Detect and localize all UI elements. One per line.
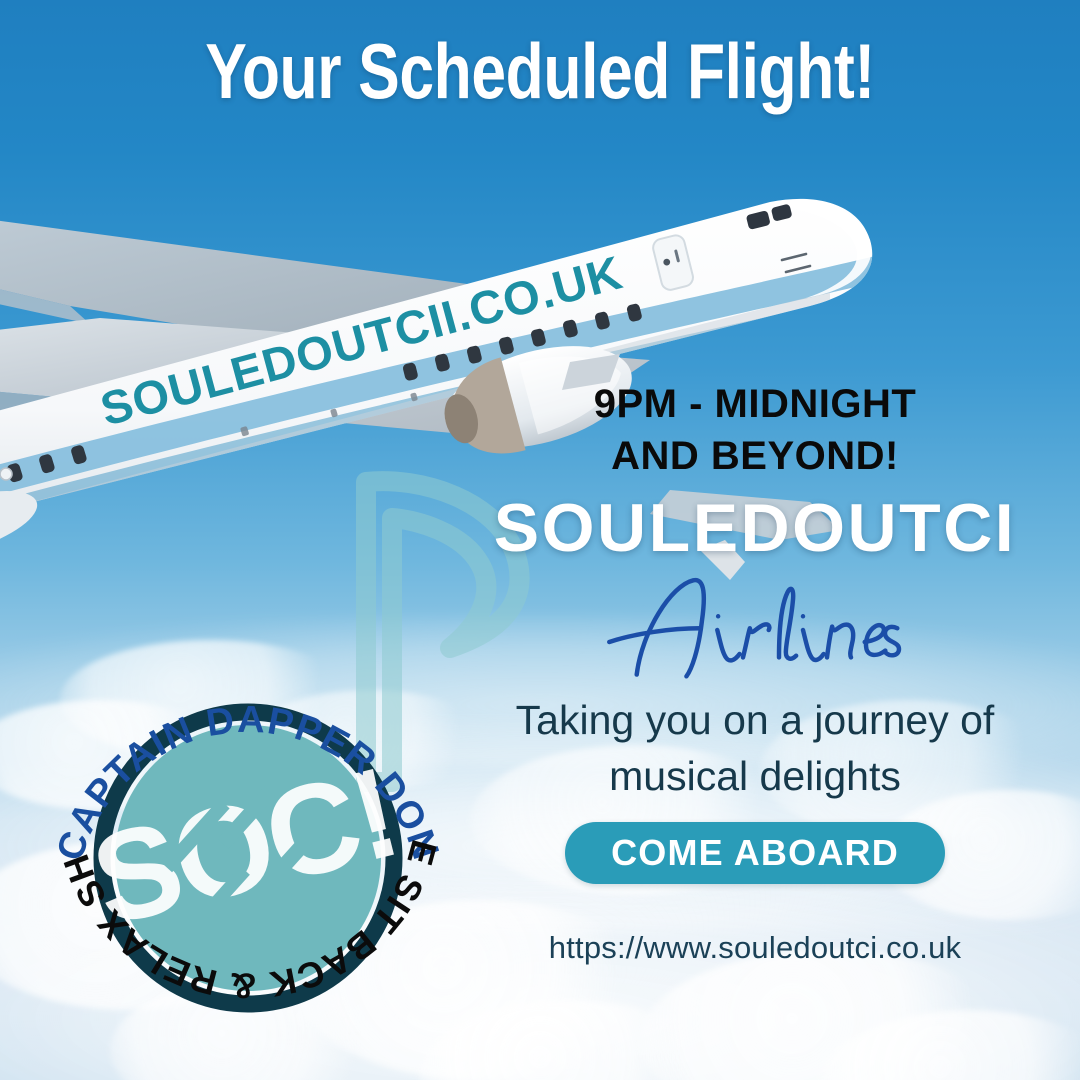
come-aboard-label: COME ABOARD: [611, 832, 899, 874]
show-badge: SOC! CAPTAIN DAPPER DON THE SIT BACK & R…: [38, 646, 458, 1066]
website-url[interactable]: https://www.souledoutci.co.uk: [455, 930, 1055, 966]
show-time-line-2: AND BEYOND!: [455, 430, 1055, 482]
promo-poster: SOULEDOUTCII.CO.UK Your Scheduled Flight…: [0, 0, 1080, 1080]
come-aboard-button[interactable]: COME ABOARD: [565, 822, 945, 884]
show-time-line-1: 9PM - MIDNIGHT: [455, 378, 1055, 430]
brand-name: SOULEDOUTCI: [455, 490, 1055, 566]
brand-script-airlines: [455, 564, 1055, 690]
page-headline: Your Scheduled Flight!: [108, 26, 972, 117]
tagline-line-2: musical delights: [455, 750, 1055, 802]
tagline-line-1: Taking you on a journey of: [455, 694, 1055, 746]
show-info-panel: 9PM - MIDNIGHT AND BEYOND! SOULEDOUTCI: [455, 378, 1055, 966]
